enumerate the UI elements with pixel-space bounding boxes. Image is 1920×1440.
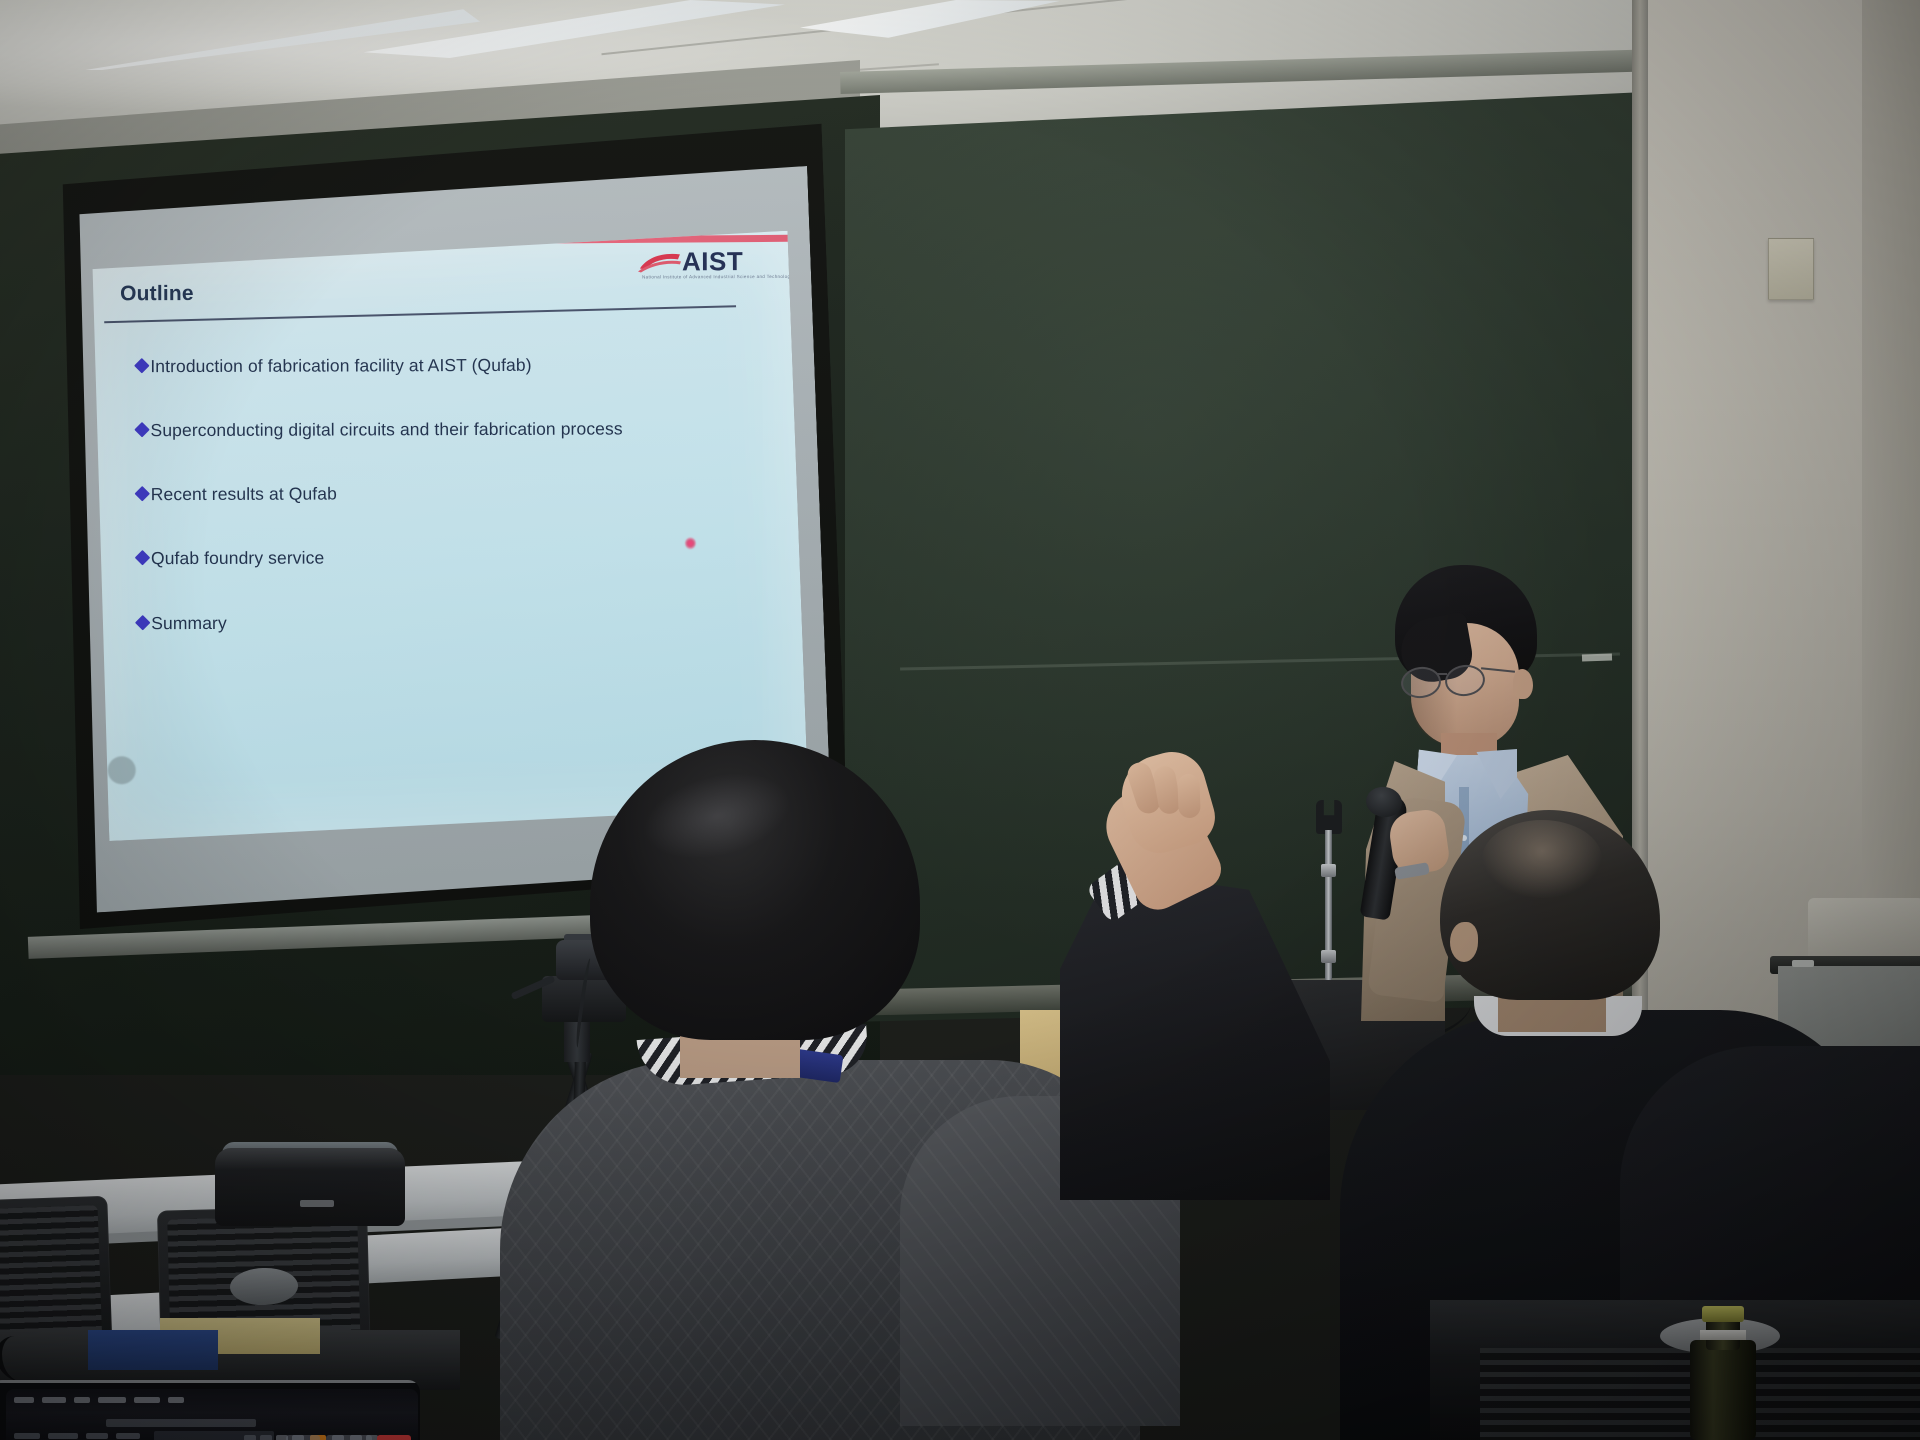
diamond-bullet-icon <box>134 486 150 502</box>
chair-slats <box>0 1205 102 1348</box>
wall-notice-plate <box>1768 238 1814 300</box>
bullet-text: Recent results at Qufab <box>151 484 337 505</box>
list-item: Qufab foundry service <box>137 546 777 568</box>
list-item: Recent results at Qufab <box>137 482 777 504</box>
list-item: Superconducting digital circuits and the… <box>137 418 777 440</box>
dark-glass-bottle <box>1690 1340 1756 1440</box>
menu-item[interactable] <box>14 1397 34 1403</box>
bottle-cap <box>1702 1306 1744 1322</box>
eyeglasses-icon <box>1399 665 1519 695</box>
scalp-highlight <box>1482 820 1602 898</box>
power-cable <box>0 1336 42 1382</box>
glasses-bridge <box>1437 673 1447 675</box>
aist-logo: AIST National Institute of Advanced Indu… <box>638 246 766 286</box>
secondary-button[interactable] <box>326 1435 372 1440</box>
menu-item[interactable] <box>42 1397 66 1403</box>
bottle-label-ring <box>1700 1330 1746 1340</box>
ear <box>1450 922 1478 962</box>
laptop-screen[interactable] <box>6 1389 418 1440</box>
finger <box>1177 774 1201 819</box>
slide-thumbnail[interactable] <box>154 1431 274 1440</box>
tab-item[interactable] <box>86 1433 108 1439</box>
menu-item[interactable] <box>74 1397 90 1403</box>
bullet-text: Summary <box>151 612 227 632</box>
app-menubar[interactable] <box>6 1393 418 1407</box>
bullet-text: Introduction of fabrication facility at … <box>150 355 531 376</box>
raised-arm <box>1020 760 1340 1220</box>
list-item: Summary <box>137 610 777 632</box>
list-item: Introduction of fabrication facility at … <box>136 354 776 376</box>
tab-item[interactable] <box>116 1433 140 1439</box>
slide-bullet-list: Introduction of fabrication facility at … <box>136 354 777 677</box>
projector-badge <box>300 1200 334 1207</box>
jacket-sleeve <box>1060 870 1330 1200</box>
tab-item[interactable] <box>48 1433 78 1439</box>
diamond-bullet-icon <box>135 614 151 630</box>
aist-swoosh-icon <box>638 252 682 272</box>
diamond-bullet-icon <box>134 422 150 438</box>
glasses-lens-left <box>1399 665 1442 701</box>
record-button[interactable] <box>377 1435 411 1440</box>
secondary-button[interactable] <box>286 1435 320 1440</box>
slide-title: Outline <box>120 282 194 306</box>
tab-item[interactable] <box>14 1433 40 1439</box>
bullet-text: Qufab foundry service <box>151 548 324 569</box>
menu-item[interactable] <box>98 1397 126 1403</box>
projector <box>215 1148 405 1226</box>
menu-item[interactable] <box>168 1397 184 1403</box>
laser-pointer-dot <box>685 537 696 549</box>
bullet-text: Superconducting digital circuits and the… <box>151 419 623 441</box>
aist-wordmark: AIST <box>682 246 743 277</box>
diamond-bullet-icon <box>135 550 151 566</box>
slide-title-rule <box>104 305 736 323</box>
lecture-hall-photo: AIST National Institute of Advanced Indu… <box>0 0 1920 1440</box>
menu-item[interactable] <box>134 1397 160 1403</box>
aist-tagline: National Institute of Advanced Industria… <box>642 274 793 280</box>
blue-folder <box>88 1330 218 1370</box>
diamond-bullet-icon <box>134 358 150 374</box>
slide-corner-mark <box>108 756 136 784</box>
glasses-temple <box>1481 667 1515 673</box>
status-strip <box>106 1419 256 1427</box>
